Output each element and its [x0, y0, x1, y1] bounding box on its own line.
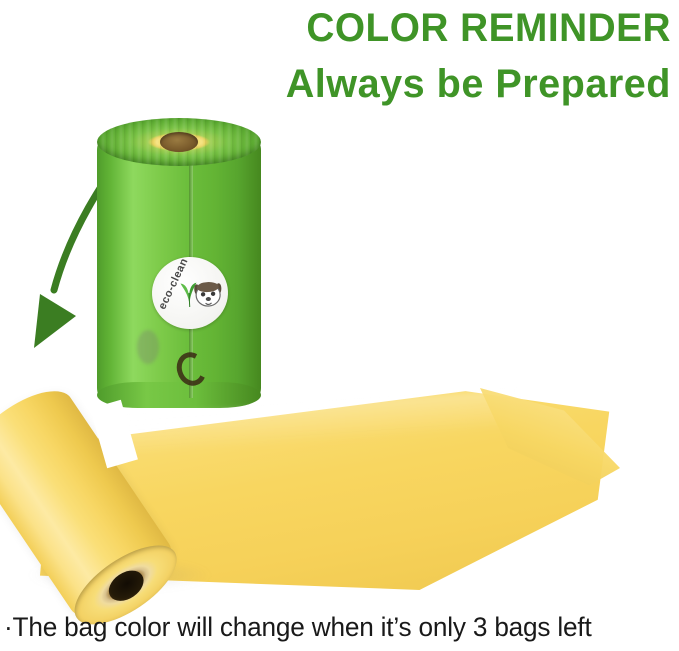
product-feature-image: COLOR REMINDER Always be Prepared eco-cl… [0, 0, 679, 651]
green-roll-core [160, 132, 198, 152]
headline-block: COLOR REMINDER Always be Prepared [251, 0, 671, 104]
yellow-waste-bag-roll-group [0, 345, 640, 605]
dog-face-icon [191, 277, 225, 313]
headline-secondary: Always be Prepared [255, 64, 671, 104]
headline-primary: COLOR REMINDER [264, 8, 671, 48]
feature-caption: ·The bag color will change when it’s onl… [4, 612, 592, 643]
